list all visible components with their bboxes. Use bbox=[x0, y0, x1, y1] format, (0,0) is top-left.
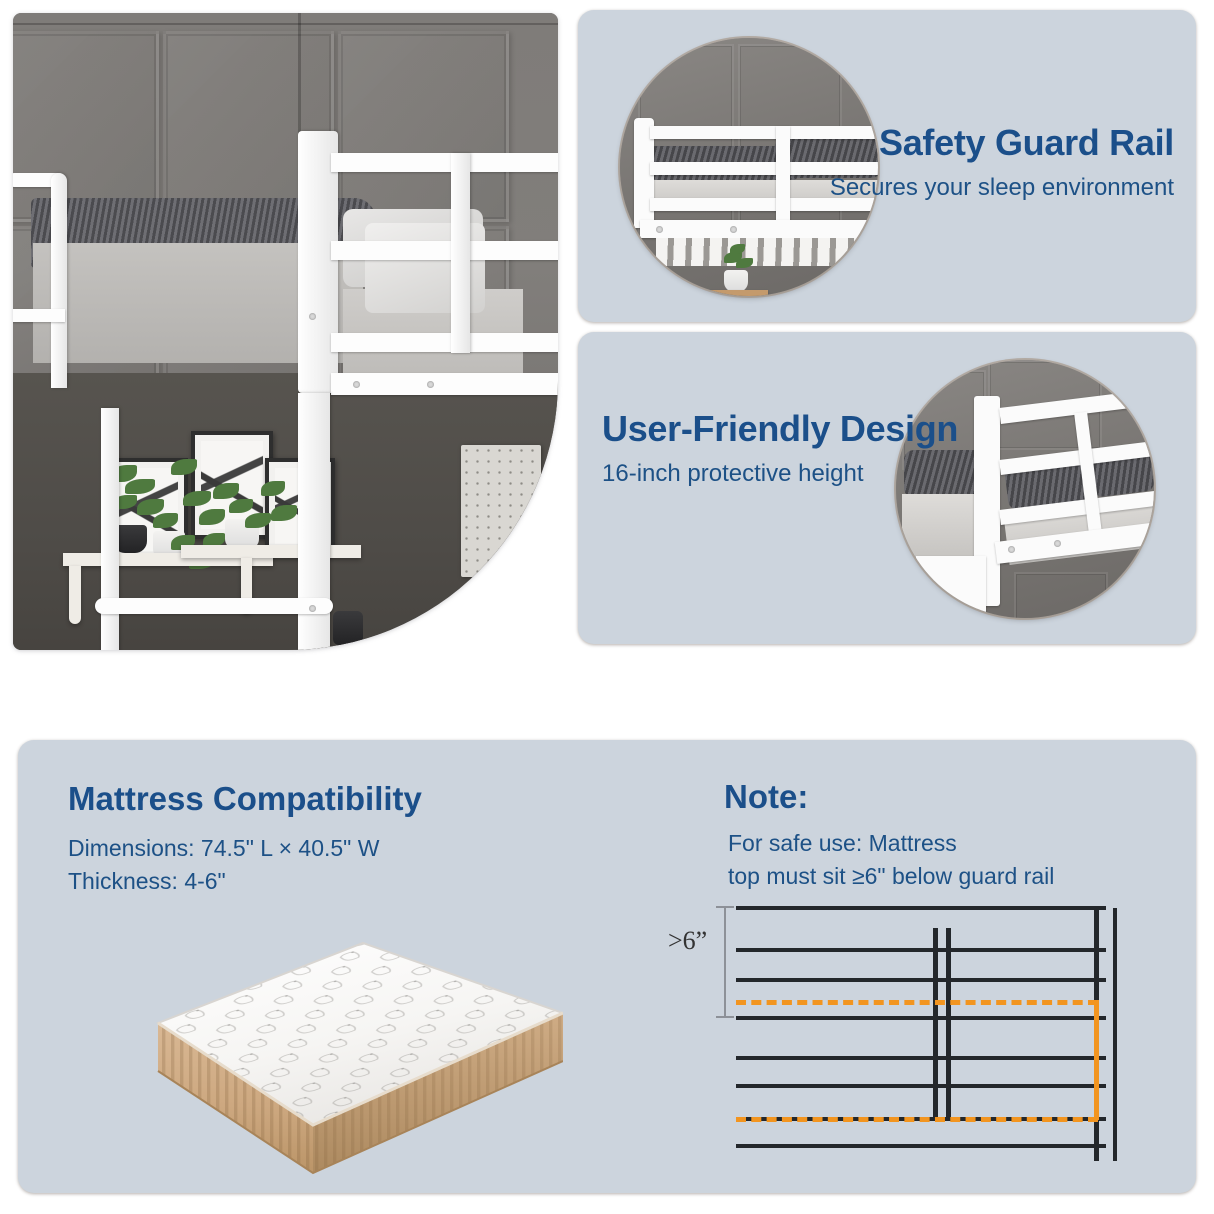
feature-panel-safety-guard-rail: Safety Guard Rail Secures your sleep env… bbox=[578, 10, 1196, 322]
rail-2 bbox=[736, 948, 1106, 952]
user-friendly-design-circle-image bbox=[896, 360, 1154, 618]
dimension-bracket-bottom bbox=[716, 1016, 734, 1018]
note-title: Note: bbox=[724, 778, 808, 816]
guard-rail-vertical bbox=[451, 153, 470, 353]
pegboard bbox=[461, 445, 541, 577]
mattress-compatibility-panel: Mattress Compatibility Dimensions: 74.5"… bbox=[18, 740, 1196, 1193]
bag-object bbox=[333, 611, 363, 645]
mattress-render bbox=[63, 935, 563, 1185]
mattress-compatibility-title: Mattress Compatibility bbox=[68, 780, 422, 818]
left-rail-mid bbox=[13, 309, 65, 322]
rail-8 bbox=[736, 1144, 1106, 1148]
bed-frame-beam bbox=[331, 373, 558, 395]
left-rail-post bbox=[51, 173, 67, 388]
safety-guard-rail-text: Safety Guard Rail Secures your sleep env… bbox=[830, 122, 1174, 202]
rail-4 bbox=[736, 1016, 1106, 1020]
note-line-1: For safe use: Mattress bbox=[728, 830, 957, 857]
infographic-canvas: Safety Guard Rail Secures your sleep env… bbox=[0, 0, 1214, 1214]
mattress-svg bbox=[63, 935, 563, 1185]
dimension-bracket-line bbox=[724, 906, 726, 1018]
mattress-thickness: Thickness: 4-6" bbox=[68, 868, 226, 895]
user-friendly-design-title: User-Friendly Design bbox=[602, 408, 958, 450]
mattress-base-level-line bbox=[736, 1117, 1098, 1122]
mattress-top-level-line bbox=[736, 1000, 1098, 1005]
shelf-bracket-left bbox=[69, 566, 81, 624]
rail-end-post-outer bbox=[1113, 908, 1117, 1161]
safety-guard-rail-subtitle: Secures your sleep environment bbox=[830, 174, 1174, 202]
mattress-level-connector bbox=[1094, 1000, 1099, 1120]
shelf-right bbox=[181, 545, 361, 558]
rail-center-post-right bbox=[946, 928, 951, 1120]
rail-3 bbox=[736, 978, 1106, 982]
rail-6 bbox=[736, 1084, 1106, 1088]
guard-rail-top bbox=[331, 153, 558, 172]
rail-1 bbox=[736, 906, 1106, 910]
dimension-label: >6” bbox=[668, 926, 707, 956]
feature-panel-user-friendly-design: User-Friendly Design 16-inch protective … bbox=[578, 332, 1196, 644]
user-friendly-design-text: User-Friendly Design 16-inch protective … bbox=[602, 408, 958, 488]
guard-rail-middle bbox=[331, 241, 558, 260]
guard-rail-diagram: >6” bbox=[658, 888, 1178, 1188]
lower-crossbar bbox=[95, 598, 333, 614]
user-friendly-design-subtitle: 16-inch protective height bbox=[602, 460, 958, 488]
rail-5 bbox=[736, 1056, 1106, 1060]
guard-rail-lower bbox=[331, 333, 558, 352]
note-line-2: top must sit ≥6" below guard rail bbox=[728, 863, 1054, 890]
mattress-dimensions: Dimensions: 74.5" L × 40.5" W bbox=[68, 835, 379, 862]
rail-center-post-left bbox=[933, 928, 938, 1120]
safety-guard-rail-title: Safety Guard Rail bbox=[830, 122, 1174, 164]
hero-product-photo bbox=[13, 13, 558, 650]
dimension-bracket-top bbox=[716, 906, 734, 908]
hero-scene bbox=[13, 13, 558, 650]
